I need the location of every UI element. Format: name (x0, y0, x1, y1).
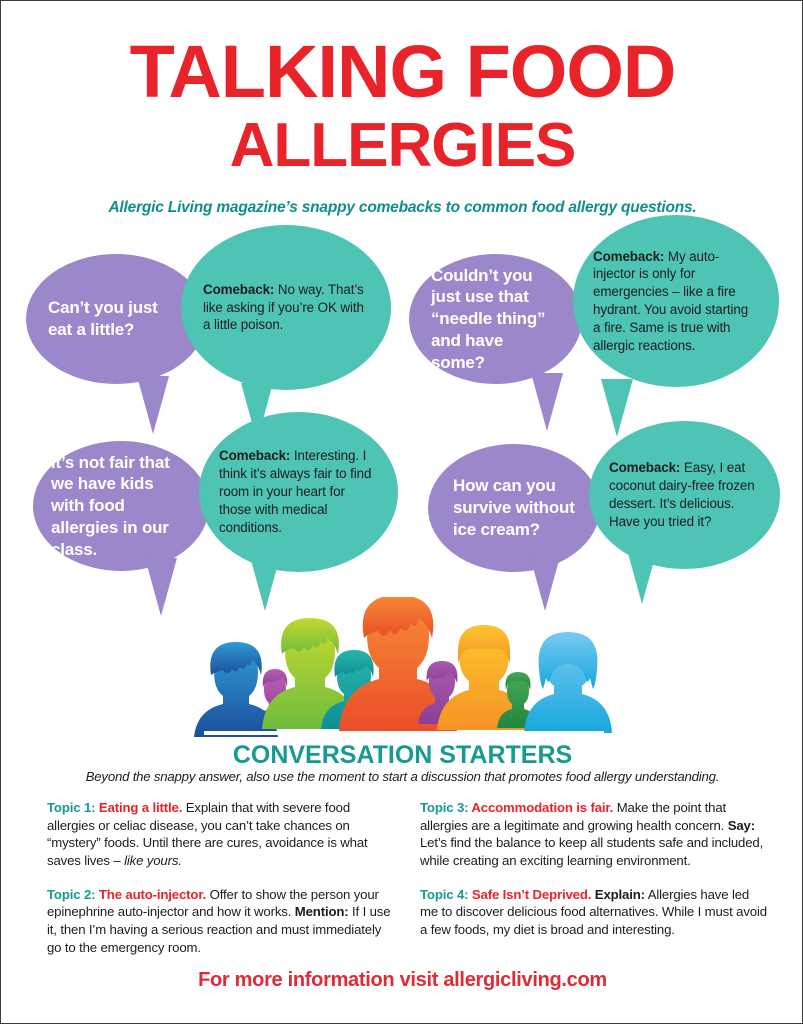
bubble-tail-question-4 (529, 553, 561, 611)
bubble-comeback-4-text: Comeback: Easy, I eat coconut dairy-free… (609, 459, 760, 530)
comeback-2-label: Comeback: (593, 249, 664, 264)
topic-1-number: Topic 1: (47, 800, 99, 815)
bubble-question-2[interactable]: Couldn’t you just use that “needle thing… (409, 254, 582, 384)
topic-3-number: Topic 3: (420, 800, 471, 815)
comeback-2-body: My auto-injector is only for emergencies… (593, 249, 748, 353)
topic-4-number: Topic 4: (420, 887, 472, 902)
bubble-question-4[interactable]: How can you survive without ice cream? (428, 444, 600, 572)
topic-3-strong: Say: (728, 818, 755, 833)
topics-column-left: Topic 1: Eating a little. Explain that w… (47, 799, 395, 973)
conversation-starters-subtitle: Beyond the snappy answer, also use the m… (1, 769, 803, 784)
topic-3-tail: Let’s find the balance to keep all stude… (420, 835, 763, 868)
topic-2-strong: Mention: (295, 904, 349, 919)
topic-2-number: Topic 2: (47, 887, 99, 902)
bubble-question-2-text: Couldn’t you just use that “needle thing… (431, 265, 560, 374)
comeback-1-label: Comeback: (203, 282, 274, 297)
bubble-tail-question-2 (531, 373, 563, 431)
conversation-starters-heading: CONVERSATION STARTERS (1, 741, 803, 770)
bubble-tail-question-1 (137, 376, 169, 434)
comeback-3-label: Comeback: (219, 448, 290, 463)
bubble-comeback-1[interactable]: Comeback: No way. That’s like asking if … (181, 225, 391, 390)
bubble-question-3-text: It’s not fair that we have kids with foo… (51, 452, 191, 561)
bubble-tail-question-3 (145, 558, 177, 616)
bubble-comeback-2-text: Comeback: My auto-injector is only for e… (593, 248, 759, 355)
bubble-tail-comeback-2 (601, 379, 633, 437)
bubble-comeback-1-text: Comeback: No way. That’s like asking if … (203, 281, 369, 334)
bubble-comeback-3-text: Comeback: Interesting. I think it’s alwa… (219, 447, 378, 536)
topic-1-head: Eating a little. (99, 800, 182, 815)
topics-column-right: Topic 3: Accommodation is fair. Make the… (420, 799, 768, 955)
page-title-line1: TALKING FOOD (1, 35, 803, 109)
page-title-line2: ALLERGIES (1, 115, 803, 177)
footer-link[interactable]: For more information visit allergiclivin… (1, 969, 803, 992)
topic-4-head: Safe Isn’t Deprived. (472, 887, 591, 902)
people-silhouettes-illustration (182, 597, 622, 737)
topic-3: Topic 3: Accommodation is fair. Make the… (420, 799, 768, 870)
topic-4: Topic 4: Safe Isn’t Deprived. Explain: A… (420, 886, 768, 939)
header: TALKING FOOD ALLERGIES Allergic Living m… (1, 1, 803, 217)
bubble-tail-comeback-1 (241, 383, 273, 441)
bubble-tail-comeback-4 (626, 546, 658, 604)
bubble-comeback-3[interactable]: Comeback: Interesting. I think it’s alwa… (199, 412, 398, 572)
bubble-comeback-4[interactable]: Comeback: Easy, I eat coconut dairy-free… (589, 421, 780, 569)
topic-2-head: The auto-injector. (99, 887, 206, 902)
bubble-tail-comeback-3 (249, 553, 281, 611)
topic-4-strong: Explain: (595, 887, 645, 902)
comeback-4-label: Comeback: (609, 460, 680, 475)
bubble-question-3[interactable]: It’s not fair that we have kids with foo… (33, 441, 209, 571)
bubble-question-1-text: Can’t you just eat a little? (48, 297, 184, 341)
topic-2: Topic 2: The auto-injector. Offer to sho… (47, 886, 395, 957)
infographic-page: TALKING FOOD ALLERGIES Allergic Living m… (0, 0, 803, 1024)
bubble-comeback-2[interactable]: Comeback: My auto-injector is only for e… (573, 215, 779, 387)
topic-1: Topic 1: Eating a little. Explain that w… (47, 799, 395, 870)
person-lightblue (524, 632, 612, 733)
bubble-question-4-text: How can you survive without ice cream? (453, 475, 575, 540)
topic-3-head: Accommodation is fair. (471, 800, 613, 815)
bubble-question-1[interactable]: Can’t you just eat a little? (26, 254, 206, 384)
topic-1-emph: like yours. (124, 853, 182, 868)
